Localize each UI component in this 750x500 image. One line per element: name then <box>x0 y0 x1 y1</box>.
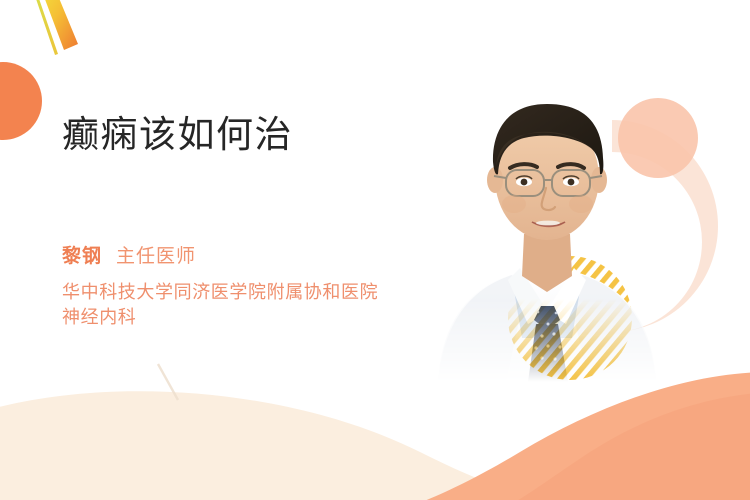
collar-right <box>546 268 586 324</box>
cover-text-block: 癫痫该如何治 黎钢主任医师 华中科技大学同济医学院附属协和医院 神经内科 <box>62 112 482 330</box>
page-title: 癫痫该如何治 <box>62 112 482 158</box>
doctor-identity-line: 黎钢主任医师 <box>62 244 482 271</box>
peach-ring-arc-decor <box>612 120 718 332</box>
yellow-striped-circle-decor <box>508 256 632 380</box>
diagonal-stripe-decor <box>33 0 78 55</box>
head-shape <box>495 116 599 240</box>
affiliation-hospital: 华中科技大学同济医学院附属协和医院 <box>62 280 482 305</box>
nose-shape <box>542 188 555 210</box>
glasses <box>494 170 602 196</box>
eyebrow-right <box>558 164 584 168</box>
doctor-name: 黎钢 <box>62 246 102 267</box>
orange-circle-decor <box>0 62 42 140</box>
cream-wave-decor <box>0 391 660 500</box>
necktie <box>528 306 568 382</box>
peach-wave-highlight-decor <box>505 392 750 500</box>
neck-shape <box>522 234 572 292</box>
eye-left <box>516 178 532 186</box>
doctor-rank: 主任医师 <box>116 246 196 267</box>
collar-left <box>508 268 548 324</box>
faint-diagonal-line-decor <box>158 364 178 400</box>
eye-right <box>563 178 579 186</box>
mouth-shape <box>531 222 566 227</box>
hair-shape <box>493 104 603 175</box>
eyebrow-left <box>510 164 537 168</box>
video-cover-card: 癫痫该如何治 黎钢主任医师 华中科技大学同济医学院附属协和医院 神经内科 <box>0 0 750 500</box>
peach-circle-decor <box>618 98 698 178</box>
shirt-shape <box>512 270 582 338</box>
peach-wave-decor <box>400 372 750 500</box>
affiliation-department: 神经内科 <box>62 305 482 330</box>
doctor-affiliation: 华中科技大学同济医学院附属协和医院 神经内科 <box>62 280 482 330</box>
